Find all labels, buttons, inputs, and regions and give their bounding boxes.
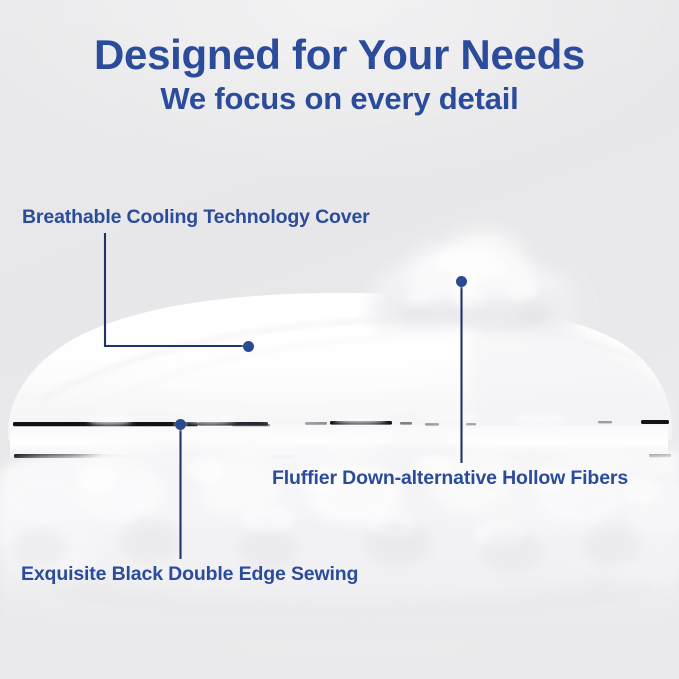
callout-label-cover: Breathable Cooling Technology Cover <box>22 206 370 229</box>
page-subtitle: We focus on every detail <box>0 83 679 116</box>
fiber-cloud-top <box>370 231 582 334</box>
page-title: Designed for Your Needs <box>0 34 679 77</box>
header-block: Designed for Your Needs We focus on ever… <box>0 34 679 115</box>
marker-dot-cover <box>243 341 254 352</box>
marker-dot-sewing <box>175 419 186 430</box>
callout-label-fibers: Fluffier Down-alternative Hollow Fibers <box>272 467 628 490</box>
infographic-canvas: Designed for Your Needs We focus on ever… <box>0 0 679 679</box>
callout-label-sewing: Exquisite Black Double Edge Sewing <box>21 563 358 586</box>
marker-dot-fibers <box>456 276 467 287</box>
